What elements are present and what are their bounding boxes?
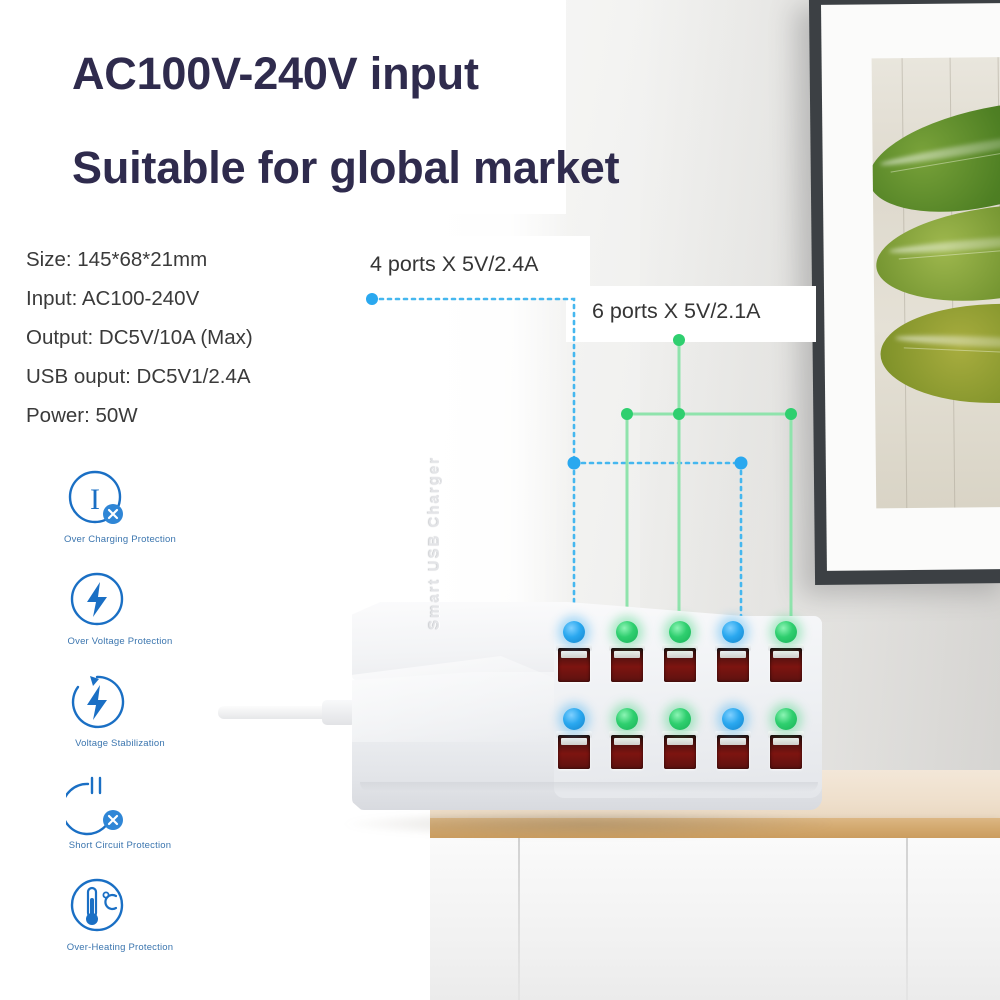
over-voltage-icon bbox=[66, 570, 128, 632]
port-led-indicator bbox=[616, 621, 638, 643]
short-circuit-icon bbox=[66, 774, 128, 836]
port-led-indicator bbox=[669, 621, 691, 643]
page-title-primary: AC100V-240V input bbox=[72, 48, 479, 100]
feature-over-voltage: Over Voltage Protection bbox=[30, 570, 210, 672]
spec-power: Power: 50W bbox=[26, 396, 356, 435]
usb-port bbox=[664, 729, 696, 769]
usb-port bbox=[558, 642, 590, 682]
feature-label: Short Circuit Protection bbox=[16, 840, 224, 851]
feature-over-charging: I Over Charging Protection bbox=[30, 468, 210, 570]
port-led-indicator bbox=[722, 621, 744, 643]
svg-text:I: I bbox=[90, 483, 100, 516]
usb-port bbox=[558, 729, 590, 769]
port-led-indicator bbox=[563, 621, 585, 643]
leaf-icon bbox=[872, 91, 1000, 226]
over-heating-icon bbox=[66, 876, 128, 938]
callout-4-ports: 4 ports X 5V/2.4A bbox=[370, 252, 539, 277]
feature-over-heating: Over-Heating Protection bbox=[30, 876, 210, 978]
port-led-indicator bbox=[775, 621, 797, 643]
usb-port bbox=[717, 729, 749, 769]
page-title-secondary: Suitable for global market bbox=[72, 142, 619, 194]
device-shadow bbox=[346, 810, 832, 838]
leaf-icon bbox=[872, 198, 1000, 308]
usb-port bbox=[770, 729, 802, 769]
port-led-indicator bbox=[616, 708, 638, 730]
usb-port bbox=[611, 729, 643, 769]
over-charging-icon: I bbox=[66, 468, 128, 530]
port-led-indicator bbox=[775, 708, 797, 730]
port-led-indicator bbox=[563, 708, 585, 730]
voltage-stabilization-icon bbox=[66, 672, 128, 734]
usb-charger-device: Smart USB Charger bbox=[330, 596, 840, 846]
usb-port bbox=[717, 642, 749, 682]
feature-short-circuit: Short Circuit Protection bbox=[30, 774, 210, 876]
device-base-edge bbox=[360, 782, 818, 792]
botanical-artwork bbox=[872, 57, 1000, 508]
power-cable bbox=[218, 706, 336, 719]
usb-port bbox=[611, 642, 643, 682]
spec-input: Input: AC100-240V bbox=[26, 279, 356, 318]
protection-features: I Over Charging Protection Over Voltage … bbox=[30, 468, 210, 978]
framed-picture bbox=[809, 0, 1000, 585]
port-led-indicator bbox=[722, 708, 744, 730]
feature-label: Voltage Stabilization bbox=[16, 738, 224, 749]
usb-port bbox=[770, 642, 802, 682]
feature-label: Over Charging Protection bbox=[16, 534, 224, 545]
specifications-list: Size: 145*68*21mm Input: AC100-240V Outp… bbox=[26, 240, 356, 435]
usb-port bbox=[664, 642, 696, 682]
spec-output: Output: DC5V/10A (Max) bbox=[26, 318, 356, 357]
brand-label: Smart USB Charger bbox=[426, 456, 443, 630]
feature-label: Over Voltage Protection bbox=[16, 636, 224, 647]
feature-voltage-stabilization: Voltage Stabilization bbox=[30, 672, 210, 774]
feature-label: Over-Heating Protection bbox=[16, 942, 224, 953]
product-infographic: AC100V-240V input Suitable for global ma… bbox=[0, 0, 1000, 1000]
leaf-icon bbox=[879, 298, 1000, 407]
cable-strain-relief bbox=[322, 700, 356, 725]
spec-usb-output: USB ouput: DC5V1/2.4A bbox=[26, 357, 356, 396]
callout-6-ports: 6 ports X 5V/2.1A bbox=[592, 299, 761, 324]
port-led-indicator bbox=[669, 708, 691, 730]
spec-size: Size: 145*68*21mm bbox=[26, 240, 356, 279]
